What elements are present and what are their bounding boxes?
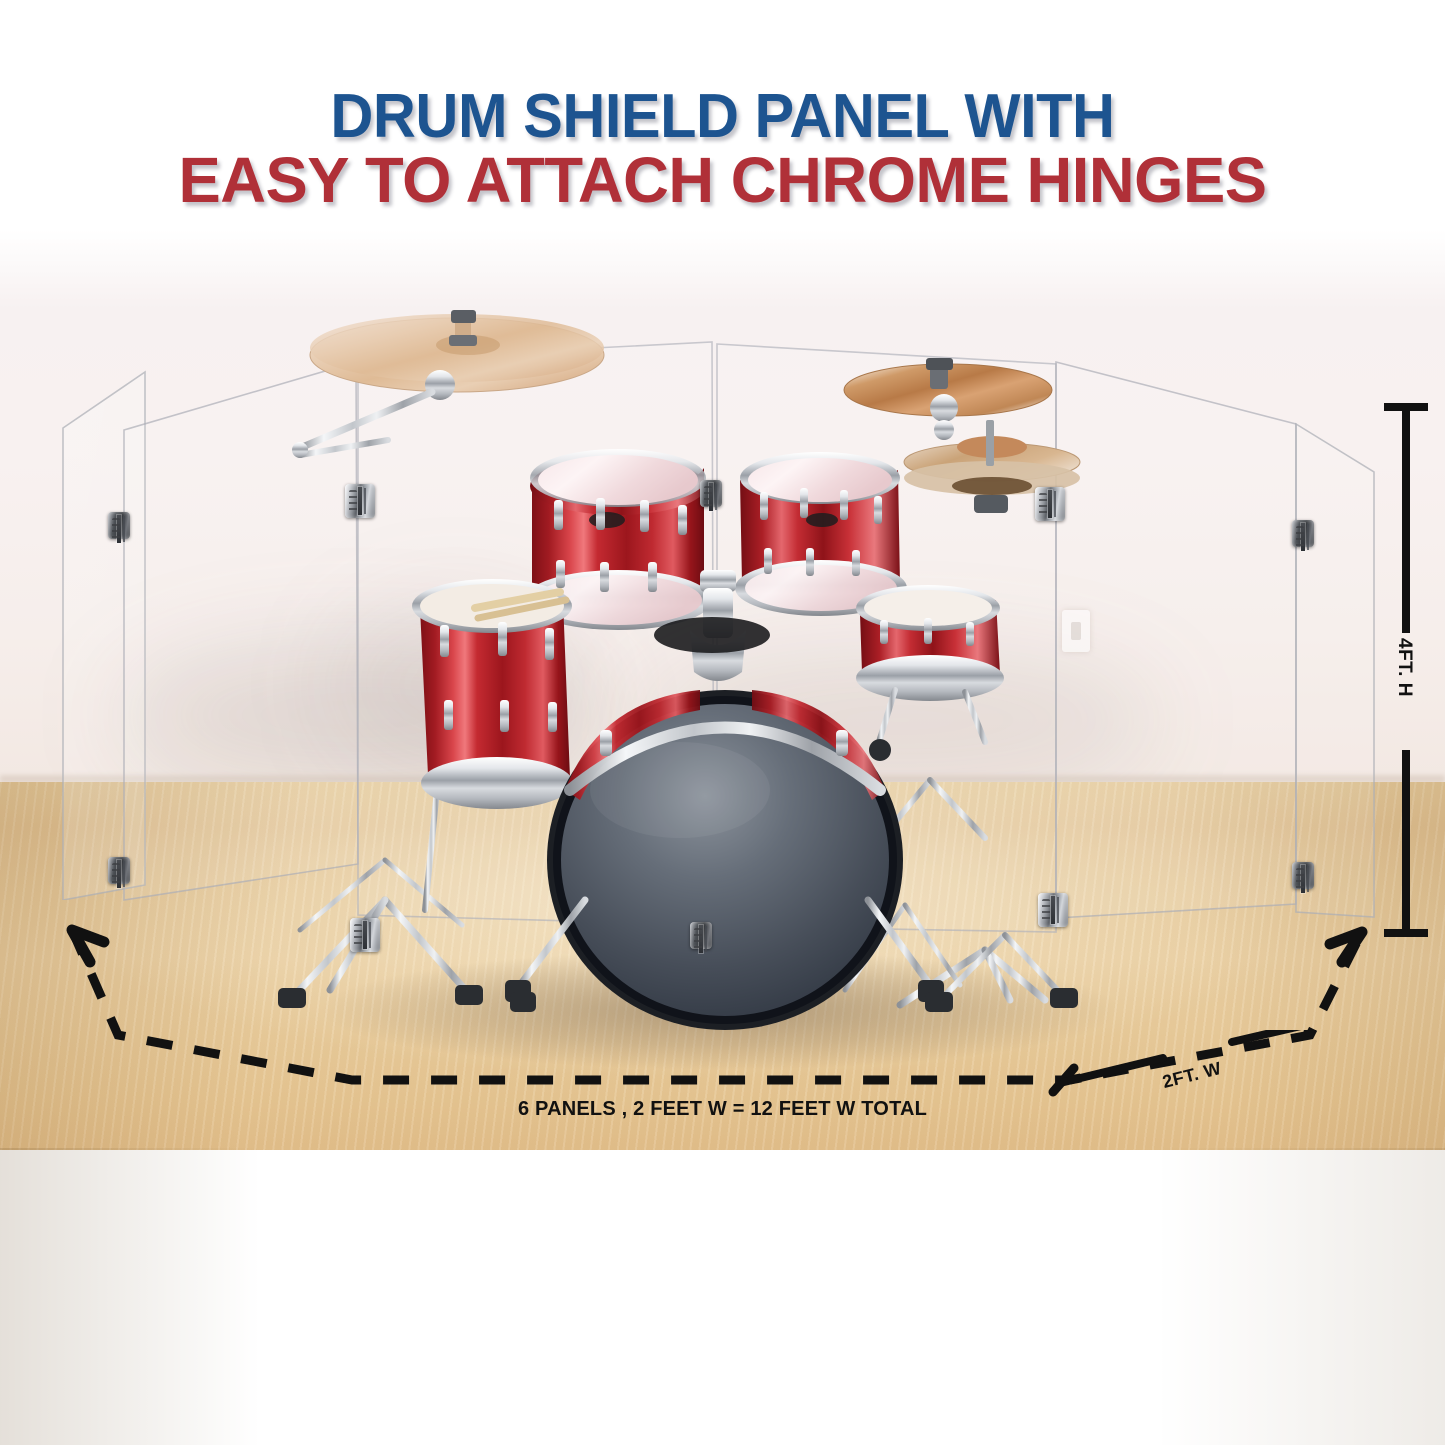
dimension-cap-bottom (1384, 929, 1428, 937)
chrome-hinge-icon (108, 512, 130, 539)
chrome-hinge-icon (1035, 487, 1065, 521)
chrome-hinge-icon (1038, 893, 1068, 927)
product-image-canvas: DRUM SHIELD PANEL WITH EASY TO ATTACH CH… (0, 0, 1445, 1445)
height-dimension-label: 4FT. H (1393, 638, 1415, 697)
headline-line-2: EASY TO ATTACH CHROME HINGES (7, 150, 1438, 210)
headline-block: DRUM SHIELD PANEL WITH EASY TO ATTACH CH… (0, 88, 1445, 210)
drum-kit-illustration (0, 0, 1445, 1445)
floor-tom (412, 579, 573, 809)
chrome-hinge-icon (345, 484, 375, 518)
chrome-hinge-icon (108, 857, 130, 884)
chrome-hinge-icon (700, 480, 722, 507)
total-width-caption: 6 PANELS , 2 FEET W = 12 FEET W TOTAL (0, 1098, 1445, 1121)
headline-line-1: DRUM SHIELD PANEL WITH (29, 88, 1416, 146)
chrome-hinge-icon (350, 918, 380, 952)
crash-cymbal-right (844, 358, 1052, 440)
chrome-hinge-icon (1292, 862, 1314, 889)
chrome-hinge-icon (1292, 520, 1314, 547)
vertical-dimension-icon (1402, 408, 1410, 633)
chrome-hinge-icon (690, 922, 712, 949)
vertical-dimension-icon (1402, 750, 1410, 932)
crash-cymbal-left (292, 310, 604, 458)
